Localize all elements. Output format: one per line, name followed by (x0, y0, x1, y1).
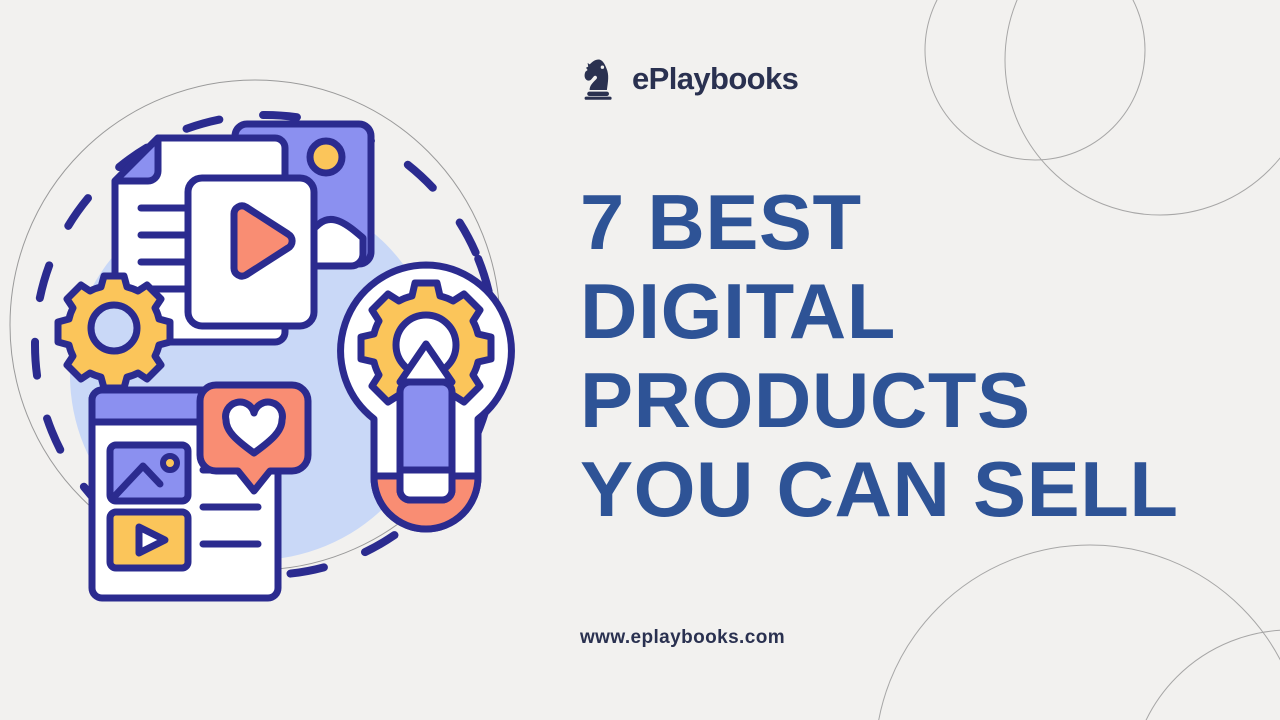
headline-line-4: YOU CAN SELL (580, 445, 1243, 534)
page-title: 7 BEST DIGITAL PRODUCTS YOU CAN SELL (580, 178, 1230, 534)
image-thumbnail (110, 445, 188, 501)
headline-line-1: 7 BEST (580, 178, 1243, 267)
pencil-icon (400, 344, 452, 500)
brand-name: ePlaybooks (632, 63, 798, 94)
video-card (188, 178, 314, 326)
gear-small-icon (58, 276, 170, 388)
content-column: ePlaybooks 7 BEST DIGITAL PRODUCTS YOU C… (578, 0, 1238, 720)
video-thumbnail (110, 512, 188, 568)
headline-line-2: DIGITAL (580, 267, 1243, 356)
poster-canvas: ePlaybooks 7 BEST DIGITAL PRODUCTS YOU C… (0, 0, 1280, 720)
image-card-sun-icon (310, 141, 342, 173)
headline-line-3: PRODUCTS (580, 356, 1243, 445)
brand-lockup: ePlaybooks (578, 56, 798, 100)
site-url: www.eplaybooks.com (580, 627, 785, 649)
chess-knight-icon (578, 56, 618, 100)
digital-products-illustration (0, 0, 560, 720)
